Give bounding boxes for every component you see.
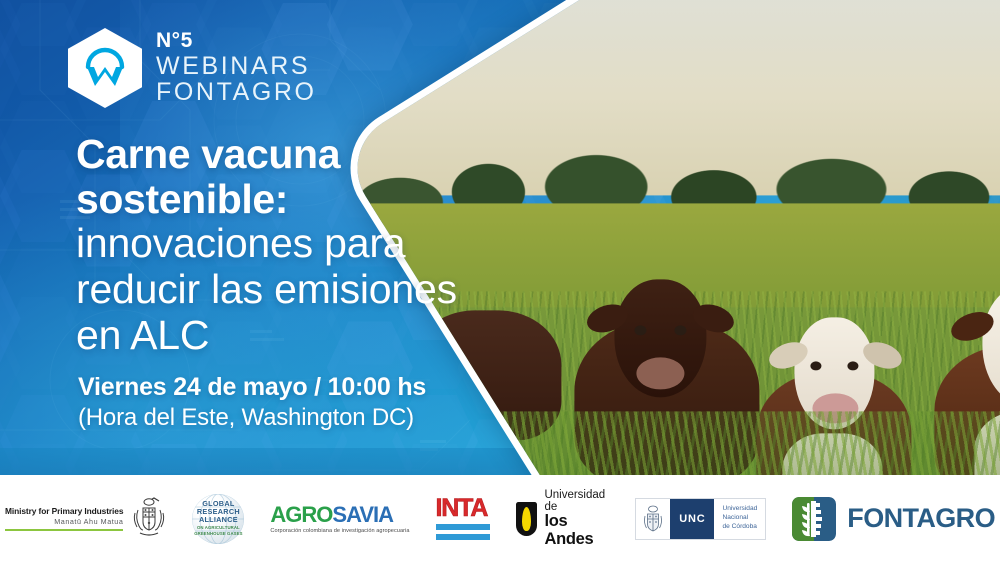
unc-crest-icon <box>636 499 670 539</box>
webinar-number: N°5 <box>156 30 317 52</box>
agrosavia-word-blue: SAVIA <box>332 502 393 527</box>
inta-wordmark: INTA <box>436 497 490 521</box>
page-title: Carne vacuna sostenible: innovaciones pa… <box>76 132 546 359</box>
uniandes-line-2: los Andes <box>544 513 609 548</box>
agrosavia-word-green: AGRO <box>270 502 332 527</box>
logo-global-research-alliance: GLOBAL RESEARCH ALLIANCE ON AGRICULTURAL… <box>192 494 244 544</box>
inta-bar-top <box>436 524 490 531</box>
headline-light-line-2: reducir las emisiones <box>76 267 546 313</box>
mpi-green-rule <box>5 529 123 532</box>
mpi-line-2: Manatū Ahu Matua <box>5 517 123 526</box>
event-timezone: (Hora del Este, Washington DC) <box>78 403 426 433</box>
webinar-promo-banner: N°5 WEBINARS FONTAGRO Carne vacuna soste… <box>0 0 1000 562</box>
unc-acronym: UNC <box>670 499 714 539</box>
unc-line-1: Universidad <box>722 505 757 514</box>
sponsor-logo-bar: Ministry for Primary Industries Manatū A… <box>0 475 1000 562</box>
mpi-line-1: Ministry for Primary Industries <box>5 506 123 516</box>
logo-ministry-primary-industries: Ministry for Primary Industries Manatū A… <box>5 497 166 541</box>
uniandes-shield-icon <box>516 502 538 536</box>
inta-bar-bottom <box>436 534 490 541</box>
gra-title-3: ALLIANCE <box>194 516 242 524</box>
headline-light-line-1: innovaciones para <box>76 221 546 267</box>
logo-inta: INTA <box>436 497 490 541</box>
webinar-label-webinars: WEBINARS <box>156 53 317 80</box>
headline-bold-line-2: sostenible: <box>76 177 546 222</box>
fontagro-wheat-gear-icon <box>792 497 836 541</box>
webinar-label-fontagro: FONTAGRO <box>156 79 317 106</box>
unc-line-2: Nacional <box>722 514 757 523</box>
agrosavia-tagline: Corporación colombiana de investigación … <box>270 528 409 534</box>
event-datetime: Viernes 24 de mayo / 10:00 hs (Hora del … <box>78 372 426 433</box>
new-zealand-coat-of-arms-icon <box>132 497 166 541</box>
uniandes-line-1: Universidad de <box>544 489 609 513</box>
fontagro-w-hexagon-icon <box>68 28 142 108</box>
gra-sub-2: GREENHOUSE GASES <box>194 532 242 537</box>
logo-unc: UNC Universidad Nacional de Córdoba <box>635 498 766 540</box>
unc-line-3: de Córdoba <box>722 523 757 532</box>
gra-sub-1: ON AGRICULTURAL <box>194 526 242 531</box>
fontagro-wordmark: FONTAGRO <box>847 503 995 534</box>
headline-light-line-3: en ALC <box>76 313 546 359</box>
logo-fontagro: FONTAGRO <box>792 497 995 541</box>
uniandes-flame-icon <box>522 507 531 531</box>
headline-bold-line-1: Carne vacuna <box>76 132 546 177</box>
webinar-brand-lockup: N°5 WEBINARS FONTAGRO <box>68 28 317 108</box>
logo-agrosavia: AGROSAVIA Corporación colombiana de inve… <box>270 504 409 534</box>
logo-universidad-los-andes: Universidad de los Andes <box>516 489 610 548</box>
event-date-main: Viernes 24 de mayo / 10:00 hs <box>78 372 426 403</box>
